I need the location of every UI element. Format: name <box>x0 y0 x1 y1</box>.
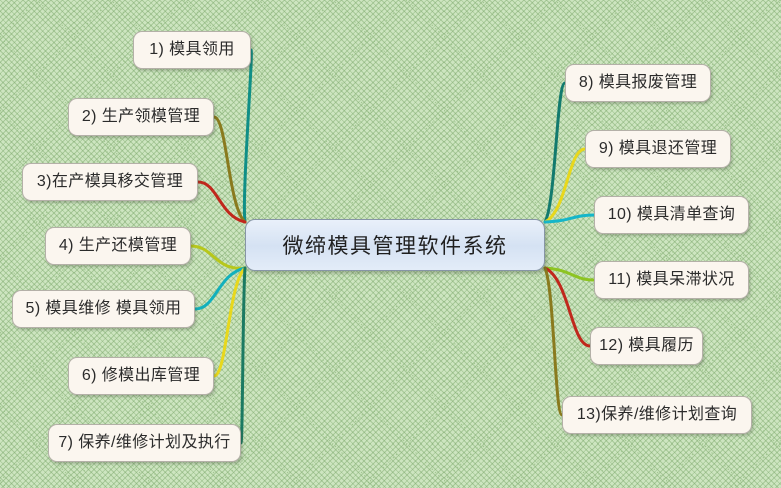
mind-map-canvas: 微缔模具管理软件系统 1) 模具领用2) 生产领模管理3)在产模具移交管理4) … <box>0 0 781 488</box>
connector-8 <box>545 83 565 222</box>
connector-13 <box>545 268 562 415</box>
branch-node-8[interactable]: 8) 模具报废管理 <box>565 64 711 102</box>
branch-node-11[interactable]: 11) 模具呆滞状况 <box>594 261 749 299</box>
branch-node-12[interactable]: 12) 模具履历 <box>590 327 703 365</box>
connector-1 <box>244 50 251 222</box>
branch-node-7[interactable]: 7) 保养/维修计划及执行 <box>48 424 241 462</box>
branch-node-5[interactable]: 5) 模具维修 模具领用 <box>12 290 195 328</box>
central-topic-node[interactable]: 微缔模具管理软件系统 <box>245 219 545 271</box>
branch-node-10[interactable]: 10) 模具清单查询 <box>594 196 749 234</box>
connector-6 <box>214 268 245 376</box>
branch-node-13[interactable]: 13)保养/维修计划查询 <box>562 396 752 434</box>
branch-node-2[interactable]: 2) 生产领模管理 <box>68 98 214 136</box>
connector-2 <box>214 117 245 222</box>
connector-3 <box>198 182 245 222</box>
branch-node-6[interactable]: 6) 修模出库管理 <box>68 357 214 395</box>
branch-node-1[interactable]: 1) 模具领用 <box>133 31 251 69</box>
connector-4 <box>191 246 245 268</box>
branch-node-9[interactable]: 9) 模具退还管理 <box>585 130 731 168</box>
branch-node-4[interactable]: 4) 生产还模管理 <box>45 227 191 265</box>
branch-node-3[interactable]: 3)在产模具移交管理 <box>22 163 198 201</box>
connector-5 <box>195 268 245 309</box>
connector-7 <box>241 268 245 443</box>
